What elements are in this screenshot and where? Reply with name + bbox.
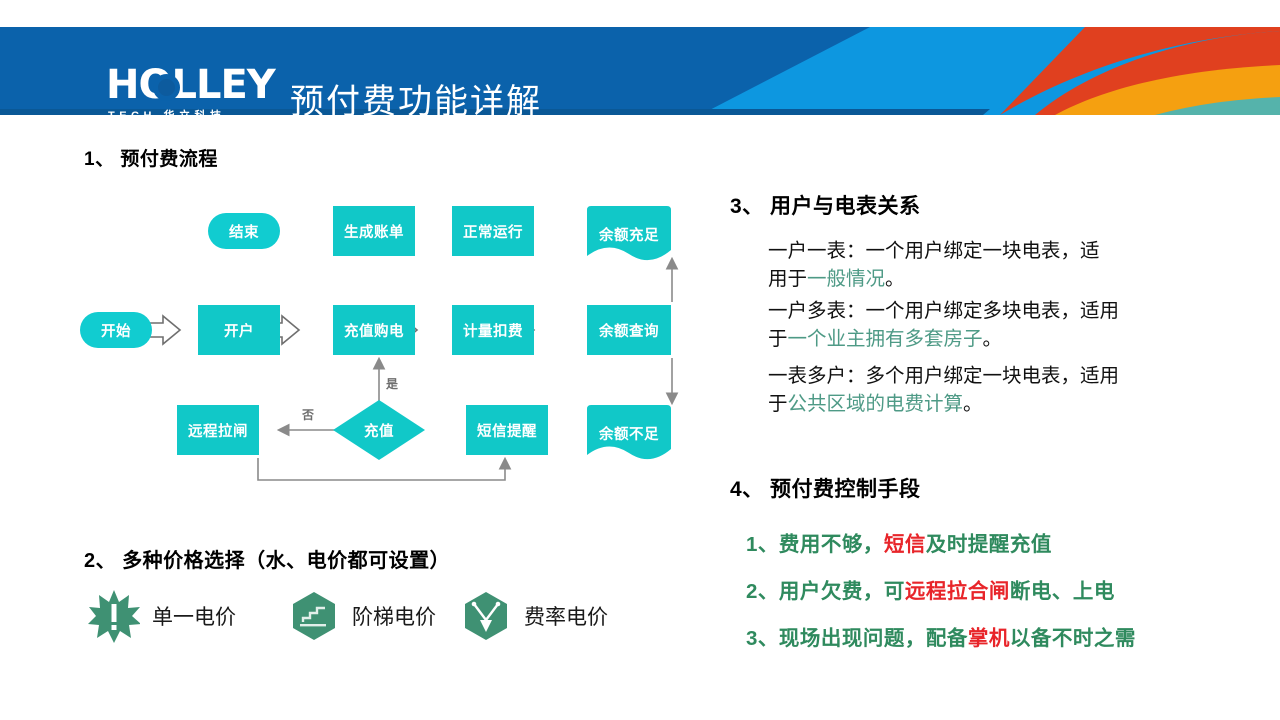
flow-node-remote-cutoff-label: 远程拉闸: [188, 420, 248, 441]
control-1-emphasis: 短信: [884, 533, 926, 556]
control-item-2: 2、用户欠费，可远程拉合闸断电、上电: [746, 574, 1115, 604]
flow-node-recharge-buy-label: 充值购电: [344, 320, 404, 341]
relation-1-text-b: 。: [885, 268, 905, 290]
branch-label-yes: 是: [386, 375, 398, 392]
slide-header: HOLLEY TECH 华立科技 预付费功能详解: [0, 27, 1280, 115]
holley-logo: HOLLEY TECH 华立科技: [106, 67, 271, 115]
relation-2-highlight: 一个业主拥有多套房子: [788, 328, 983, 350]
slide-root: HOLLEY TECH 华立科技 预付费功能详解 1、 预付费流程: [0, 0, 1280, 720]
control-item-3: 3、现场出现问题，配备掌机以备不时之需: [746, 621, 1136, 651]
price-option-tiered-label: 阶梯电价: [352, 601, 436, 631]
flow-node-metering-deduct-label: 计量扣费: [463, 320, 523, 341]
flow-node-balance-enough[interactable]: 余额充足: [587, 206, 671, 262]
flow-node-end[interactable]: 结束: [208, 213, 280, 249]
flow-node-sms-remind[interactable]: 短信提醒: [466, 405, 548, 455]
flow-node-sms-remind-label: 短信提醒: [477, 420, 537, 441]
logo-wordmark: HOLLEY: [106, 65, 275, 105]
control-1-number: 1、: [746, 533, 779, 556]
section-4-heading: 4、 预付费控制手段: [730, 473, 921, 503]
control-3-number: 3、: [746, 627, 779, 650]
relation-item-1: 一户一表：一个用户绑定一块电表，适用于一般情况。: [768, 237, 1108, 293]
control-2-number: 2、: [746, 580, 779, 603]
price-options-row: 单一电价 阶梯电价 费率电价: [88, 588, 688, 652]
flow-node-start[interactable]: 开始: [80, 312, 152, 348]
flow-node-balance-enough-label: 余额充足: [599, 224, 659, 245]
flow-node-metering-deduct[interactable]: 计量扣费: [452, 305, 534, 355]
section-1-heading: 1、 预付费流程: [84, 144, 218, 171]
control-2-post: 断电、上电: [1010, 580, 1115, 603]
logo-subtitle: TECH 华立科技: [108, 107, 226, 115]
flow-node-balance-query-label: 余额查询: [599, 320, 659, 341]
flow-node-balance-low-label: 余额不足: [599, 423, 659, 444]
flow-node-remote-cutoff[interactable]: 远程拉闸: [177, 405, 259, 455]
relation-3-text-b: 。: [963, 393, 983, 415]
flow-node-recharge-decision[interactable]: 充值: [333, 400, 425, 460]
section-2-heading: 2、 多种价格选择（水、电价都可设置）: [84, 544, 450, 573]
flow-node-open-account[interactable]: 开户: [198, 305, 280, 355]
hexagon-rate-icon: [460, 588, 512, 644]
flow-node-recharge-buy[interactable]: 充值购电: [333, 305, 415, 355]
flow-node-normal-run-label: 正常运行: [463, 221, 523, 242]
control-2-emphasis: 远程拉合闸: [905, 580, 1010, 603]
price-option-single[interactable]: 单一电价: [88, 588, 236, 644]
control-2-pre: 用户欠费，可: [779, 580, 905, 603]
relation-2-text-b: 。: [983, 328, 1003, 350]
control-3-post: 以备不时之需: [1010, 627, 1136, 650]
flow-node-open-account-label: 开户: [224, 320, 254, 341]
flow-node-recharge-decision-label: 充值: [364, 420, 394, 441]
hexagon-steps-icon: [288, 588, 340, 644]
relation-1-highlight: 一般情况: [807, 268, 885, 290]
control-1-pre: 费用不够，: [779, 533, 884, 556]
flow-node-balance-low[interactable]: 余额不足: [587, 405, 671, 461]
control-item-1: 1、费用不够，短信及时提醒充值: [746, 527, 1052, 557]
price-option-rate-label: 费率电价: [524, 601, 608, 631]
branch-label-no: 否: [302, 406, 314, 423]
relation-3-highlight: 公共区域的电费计算: [788, 393, 964, 415]
control-3-pre: 现场出现问题，配备: [779, 627, 968, 650]
flow-node-balance-query[interactable]: 余额查询: [587, 305, 671, 355]
control-3-emphasis: 掌机: [968, 627, 1010, 650]
price-option-single-label: 单一电价: [152, 601, 236, 631]
relation-item-2: 一户多表：一个用户绑定多块电表，适用于一个业主拥有多套房子。: [768, 297, 1120, 353]
price-option-rate[interactable]: 费率电价: [460, 588, 608, 644]
page-title: 预付费功能详解: [290, 74, 542, 115]
starburst-exclamation-icon: [88, 588, 140, 644]
flow-node-bill[interactable]: 生成账单: [333, 206, 415, 256]
logo-ring-icon: [153, 74, 180, 101]
control-1-post: 及时提醒充值: [926, 533, 1052, 556]
section-3-heading: 3、 用户与电表关系: [730, 190, 921, 220]
price-option-tiered[interactable]: 阶梯电价: [288, 588, 436, 644]
relation-item-3: 一表多户：多个用户绑定一块电表，适用于公共区域的电费计算。: [768, 362, 1120, 418]
prepaid-flowchart: 结束 生成账单 正常运行 余额充足 开始 开户 充值购电 计量扣费 余额: [80, 180, 700, 490]
flow-node-normal-run[interactable]: 正常运行: [452, 206, 534, 256]
flow-node-bill-label: 生成账单: [344, 221, 404, 242]
flow-node-end-label: 结束: [229, 221, 259, 242]
flow-node-start-label: 开始: [101, 320, 131, 341]
